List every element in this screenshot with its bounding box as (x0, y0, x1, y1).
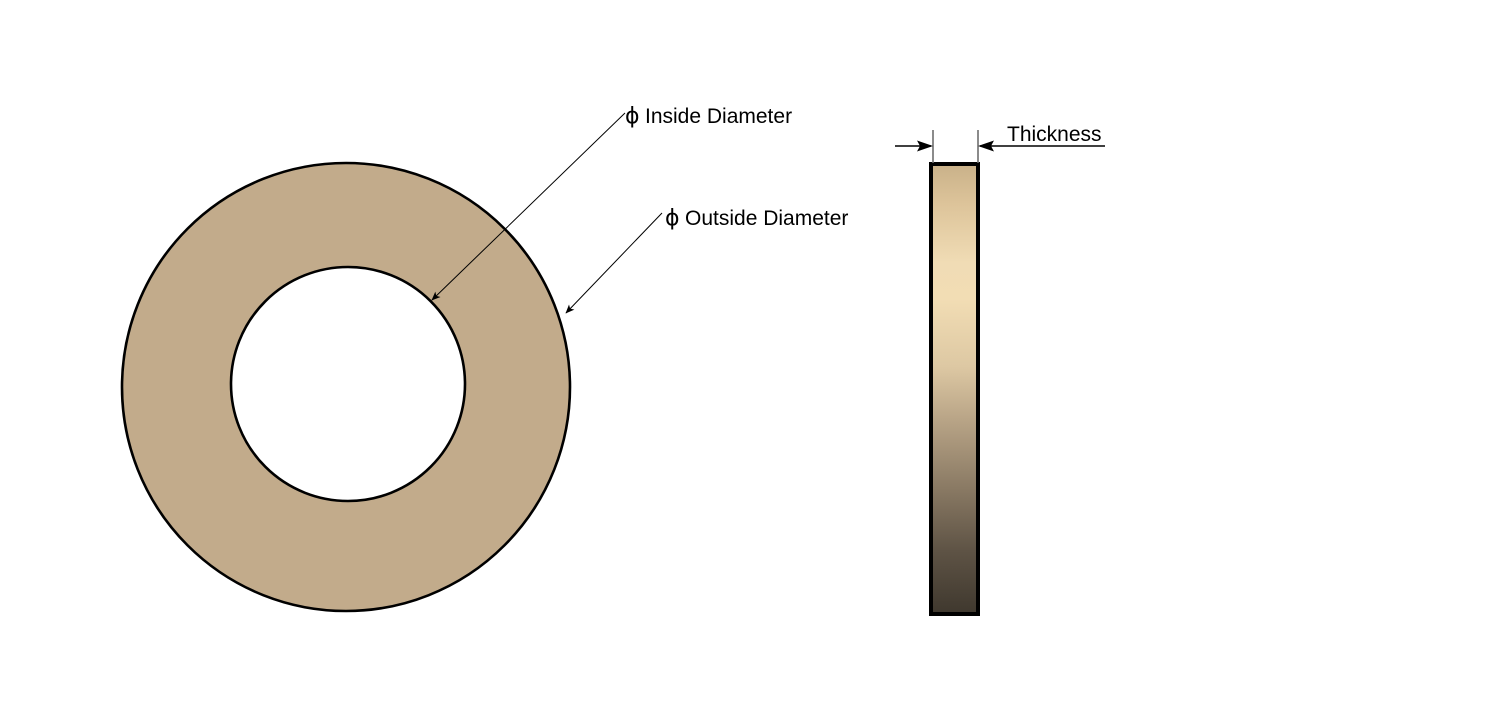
thickness-dimension: Thickness (895, 123, 1105, 163)
thickness-label: Thickness (1007, 123, 1102, 146)
inside-diameter-phi-icon: ϕ (625, 104, 640, 129)
washer-side-bar (931, 164, 978, 614)
washer-side-view (931, 164, 978, 614)
washer-inner-hole (231, 267, 465, 501)
outside-diameter-leader-line (566, 213, 662, 313)
drawing-canvas: ϕ Inside Diameter ϕ Outside Diameter Thi… (0, 0, 1500, 719)
washer-front-view (122, 163, 570, 611)
outside-diameter-label: Outside Diameter (685, 207, 848, 230)
outside-diameter-annotation: ϕ Outside Diameter (566, 206, 848, 313)
inside-diameter-label: Inside Diameter (645, 105, 792, 128)
washer-technical-drawing: ϕ Inside Diameter ϕ Outside Diameter Thi… (0, 0, 1500, 719)
outside-diameter-phi-icon: ϕ (665, 206, 680, 231)
